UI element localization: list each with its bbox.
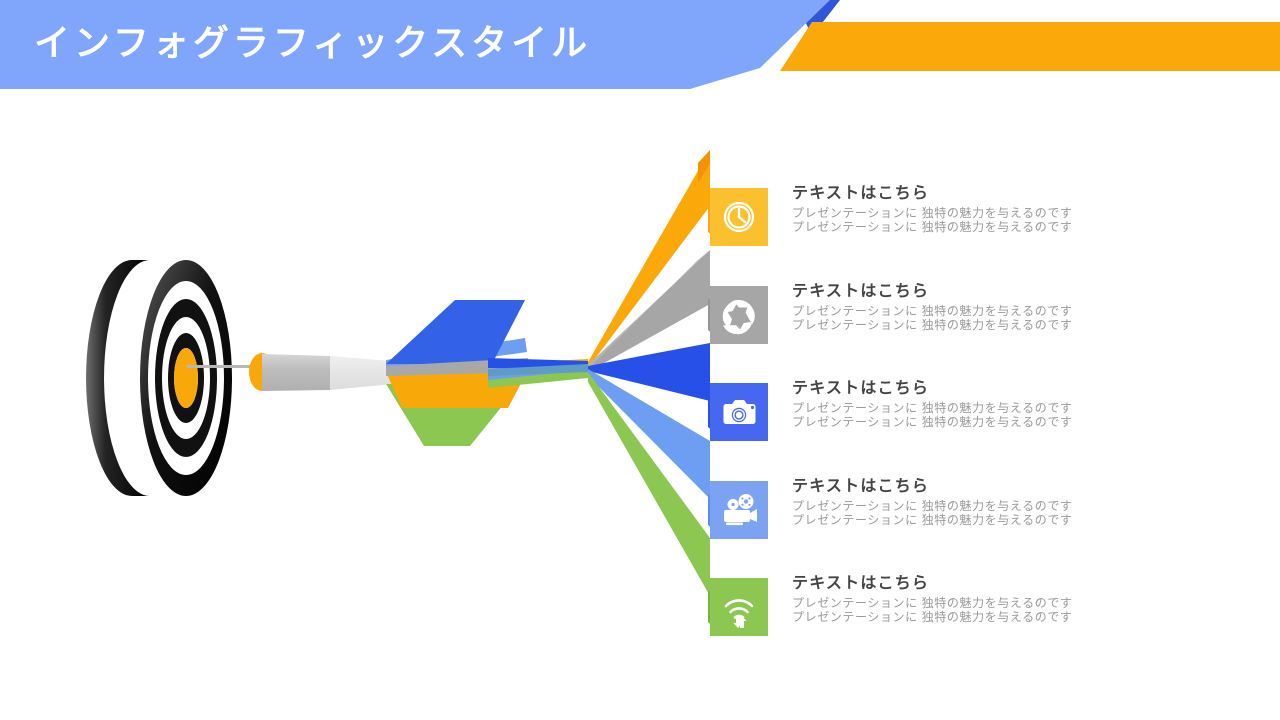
list-item[interactable]: テキストはこちら プレゼンテーションに 独特の魅力を与えるのです プレゼンテーシ… xyxy=(708,188,1268,254)
row-line-1: プレゼンテーションに 独特の魅力を与えるのです xyxy=(792,499,1262,513)
badge-shape xyxy=(708,286,778,344)
row-title: テキストはこちら xyxy=(792,184,1262,204)
row-badge[interactable] xyxy=(708,286,766,344)
badge-shape xyxy=(708,383,778,441)
row-line-1: プレゼンテーションに 独特の魅力を与えるのです xyxy=(792,206,1262,220)
camera-lens-core xyxy=(736,412,742,418)
row-title: テキストはこちら xyxy=(792,477,1262,497)
row-line-1: プレゼンテーションに 独特の魅力を与えるのです xyxy=(792,401,1262,415)
row-text-block: テキストはこちら プレゼンテーションに 独特の魅力を与えるのです プレゼンテーシ… xyxy=(792,379,1262,429)
row-badge[interactable] xyxy=(708,578,766,636)
badge-plate xyxy=(710,286,768,344)
list-item[interactable]: テキストはこちら プレゼンテーションに 独特の魅力を与えるのです プレゼンテーシ… xyxy=(708,286,1268,352)
row-title: テキストはこちら xyxy=(792,379,1262,399)
row-text-block: テキストはこちら プレゼンテーションに 独特の魅力を与えるのです プレゼンテーシ… xyxy=(792,574,1262,624)
badge-plate xyxy=(710,578,768,636)
row-badge[interactable] xyxy=(708,481,766,539)
slide-canvas: インフォグラフィックスタイル xyxy=(0,0,1280,720)
row-line-1: プレゼンテーションに 独特の魅力を与えるのです xyxy=(792,304,1262,318)
list-item[interactable]: テキストはこちら プレゼンテーションに 独特の魅力を与えるのです プレゼンテーシ… xyxy=(708,578,1268,644)
list-item[interactable]: テキストはこちら プレゼンテーションに 独特の魅力を与えるのです プレゼンテーシ… xyxy=(708,481,1268,547)
badge-shape xyxy=(708,578,778,636)
row-text-block: テキストはこちら プレゼンテーションに 独特の魅力を与えるのです プレゼンテーシ… xyxy=(792,477,1262,527)
row-text-block: テキストはこちら プレゼンテーションに 独特の魅力を与えるのです プレゼンテーシ… xyxy=(792,184,1262,234)
row-line-2: プレゼンテーションに 独特の魅力を与えるのです xyxy=(792,220,1262,234)
row-line-2: プレゼンテーションに 独特の魅力を与えるのです xyxy=(792,513,1262,527)
row-title: テキストはこちら xyxy=(792,282,1262,302)
row-line-1: プレゼンテーションに 独特の魅力を与えるのです xyxy=(792,596,1262,610)
row-line-2: プレゼンテーションに 独特の魅力を与えるのです xyxy=(792,610,1262,624)
badge-shape xyxy=(708,481,778,539)
badge-shape xyxy=(708,188,778,246)
row-title: テキストはこちら xyxy=(792,574,1262,594)
row-badge[interactable] xyxy=(708,188,766,246)
clock-icon xyxy=(725,203,753,231)
row-badge[interactable] xyxy=(708,383,766,441)
row-line-2: プレゼンテーションに 独特の魅力を与えるのです xyxy=(792,318,1262,332)
list-item[interactable]: テキストはこちら プレゼンテーションに 独特の魅力を与えるのです プレゼンテーシ… xyxy=(708,383,1268,449)
row-line-2: プレゼンテーションに 独特の魅力を与えるのです xyxy=(792,415,1262,429)
row-text-block: テキストはこちら プレゼンテーションに 独特の魅力を与えるのです プレゼンテーシ… xyxy=(792,282,1262,332)
content-rows: テキストはこちら プレゼンテーションに 独特の魅力を与えるのです プレゼンテーシ… xyxy=(0,0,1280,720)
